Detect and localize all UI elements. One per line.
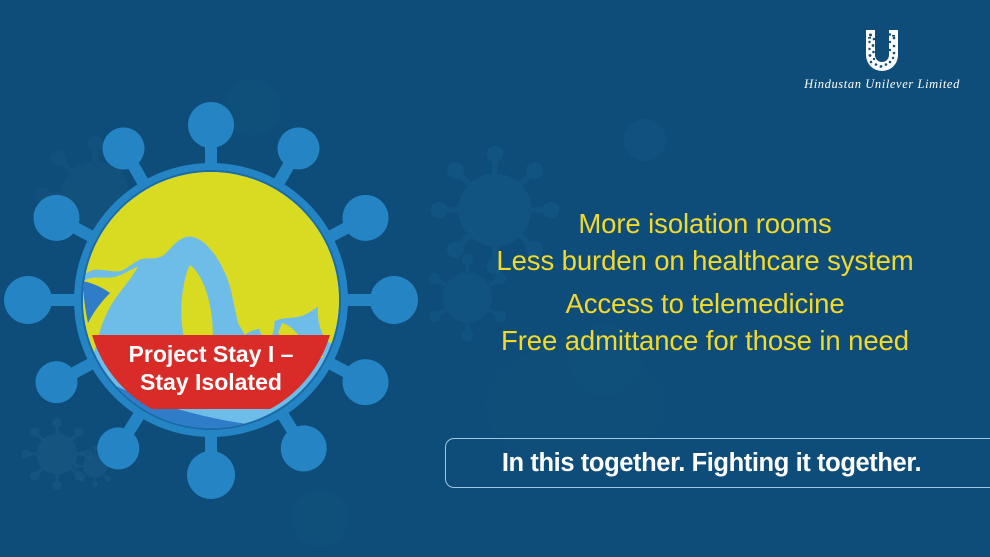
- benefit-line: Access to telemedicine: [440, 286, 970, 323]
- company-name: Hindustan Unilever Limited: [792, 77, 972, 92]
- benefits-group-2: Access to telemedicine Free admittance f…: [440, 286, 970, 359]
- benefits-block: More isolation rooms Less burden on heal…: [440, 206, 970, 366]
- benefits-group-1: More isolation rooms Less burden on heal…: [440, 206, 970, 279]
- brand-logo: Hindustan Unilever Limited: [792, 26, 972, 92]
- project-banner-line-2: Stay Isolated: [140, 369, 282, 395]
- benefit-line: Free admittance for those in need: [440, 323, 970, 360]
- slogan-banner: In this together. Fighting it together.: [445, 438, 990, 488]
- poster-canvas: Project Stay I – Stay Isolated: [0, 0, 990, 557]
- emblem-svg: Project Stay I – Stay Isolated: [0, 85, 450, 530]
- unilever-u-icon: [858, 26, 906, 74]
- benefit-line: More isolation rooms: [440, 206, 970, 243]
- background-virus-icon: [610, 105, 680, 175]
- slogan-text: In this together. Fighting it together.: [502, 449, 921, 478]
- project-banner-line-1: Project Stay I –: [129, 341, 294, 367]
- benefit-line: Less burden on healthcare system: [440, 243, 970, 280]
- coronavirus-globe-emblem: Project Stay I – Stay Isolated: [0, 85, 450, 530]
